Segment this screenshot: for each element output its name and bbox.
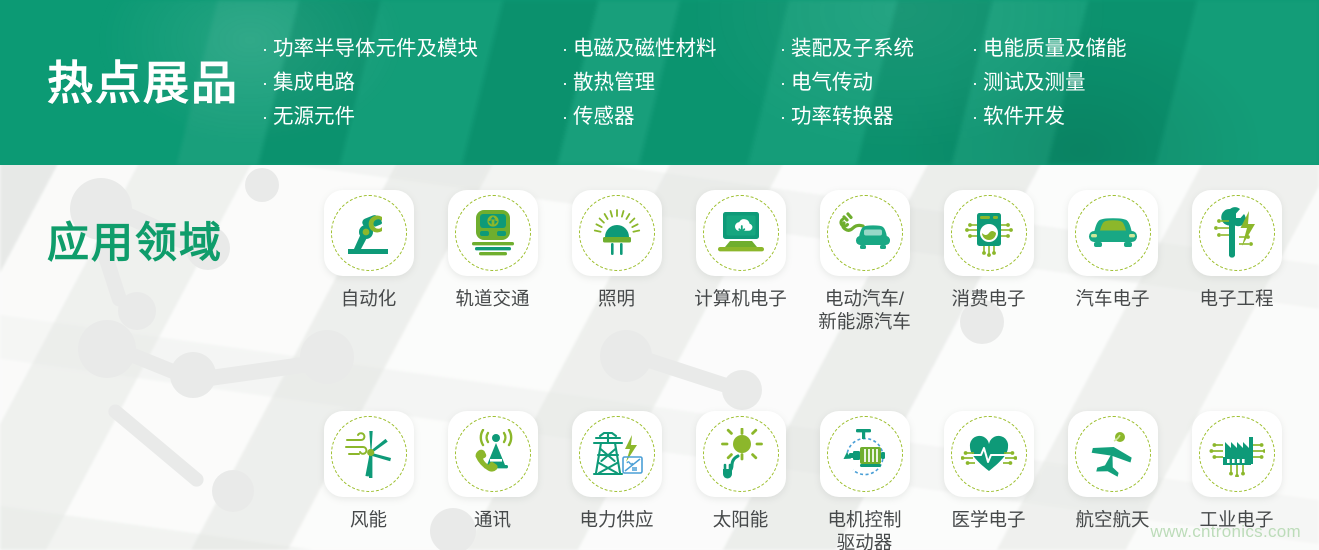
application-label: 轨道交通 <box>455 287 529 310</box>
label-line-1: 照明 <box>598 288 635 309</box>
application-item-automotive-electronics[interactable]: 汽车电子 <box>1060 190 1165 333</box>
application-item-power-supply[interactable]: 电力供应 <box>564 411 669 550</box>
icon-card <box>448 190 538 276</box>
car-icon <box>1086 216 1140 250</box>
label-line-1: 电力供应 <box>579 509 653 530</box>
icon-card <box>1068 190 1158 276</box>
label-line-1: 轨道交通 <box>455 288 529 309</box>
application-item-motor-drive[interactable]: 电机控制 驱动器 <box>812 411 917 550</box>
power-pylon-icon <box>590 429 644 479</box>
dashed-ring <box>1199 416 1275 492</box>
hot-exhibit-item: ·功率半导体元件及模块 <box>262 32 562 66</box>
application-item-electronic-engineering[interactable]: 电子工程 <box>1184 190 1289 333</box>
hot-exhibit-item: ·无源元件 <box>262 100 562 134</box>
hot-exhibits-column-2: ·电磁及磁性材料 ·散热管理 ·传感器 <box>562 32 780 134</box>
application-label: 太阳能 <box>713 508 769 531</box>
dashed-ring <box>951 416 1027 492</box>
icon-card <box>448 411 538 497</box>
label-line-1: 电机控制 <box>827 509 901 530</box>
icon-card <box>324 190 414 276</box>
label-line-1: 消费电子 <box>951 288 1025 309</box>
application-label: 电机控制 驱动器 <box>827 508 901 550</box>
dashed-ring <box>1199 195 1275 271</box>
label-line-2: 新能源汽车 <box>818 310 911 333</box>
bullet-dot: · <box>262 73 268 93</box>
dashed-ring <box>827 416 903 492</box>
bullet-dot: · <box>780 39 786 59</box>
application-label: 自动化 <box>341 287 397 310</box>
dashed-ring <box>1075 416 1151 492</box>
bullet-dot: · <box>562 107 568 127</box>
hot-exhibit-label: 功率转换器 <box>791 105 894 128</box>
application-item-automation[interactable]: 自动化 <box>316 190 421 333</box>
label-line-1: 电子工程 <box>1199 288 1273 309</box>
icon-card <box>696 411 786 497</box>
dashed-ring <box>1075 195 1151 271</box>
antenna-phone-icon <box>466 429 520 479</box>
application-label: 风能 <box>350 508 387 531</box>
hot-exhibit-label: 装配及子系统 <box>791 37 914 60</box>
icon-card <box>820 190 910 276</box>
hot-exhibit-label: 功率半导体元件及模块 <box>273 37 478 60</box>
hot-exhibit-label: 软件开发 <box>983 105 1065 128</box>
hot-exhibit-item: ·电磁及磁性材料 <box>562 32 780 66</box>
wind-turbine-icon <box>343 428 395 480</box>
dashed-ring <box>703 416 779 492</box>
icon-card <box>944 190 1034 276</box>
dashed-ring <box>579 416 655 492</box>
dashed-ring <box>579 195 655 271</box>
label-line-1: 医学电子 <box>951 509 1025 530</box>
bullet-dot: · <box>262 107 268 127</box>
hot-exhibit-item: ·电气传动 <box>780 66 972 100</box>
application-label: 电动汽车/ 新能源汽车 <box>818 287 911 333</box>
bullet-dot: · <box>972 73 978 93</box>
hot-exhibit-label: 散热管理 <box>573 71 655 94</box>
wrench-bolt-icon <box>1211 207 1263 259</box>
application-label: 通讯 <box>474 508 511 531</box>
hot-exhibits-column-1: ·功率半导体元件及模块 ·集成电路 ·无源元件 <box>262 32 562 134</box>
factory-circuit-icon <box>1209 431 1265 477</box>
application-item-rail-transit[interactable]: 轨道交通 <box>440 190 545 333</box>
icon-card <box>1192 190 1282 276</box>
application-item-communication[interactable]: 通讯 <box>440 411 545 550</box>
label-line-1: 通讯 <box>474 509 511 530</box>
label-line-1: 电动汽车/ <box>825 288 904 309</box>
hot-exhibit-item: ·电能质量及储能 <box>972 32 1172 66</box>
poster-root: 热点展品 ·功率半导体元件及模块 ·集成电路 ·无源元件 ·电磁及磁性材料 ·散… <box>0 0 1319 550</box>
dashed-ring <box>455 416 531 492</box>
application-icon-grid: 自动化 <box>316 190 1316 550</box>
hot-exhibit-item: ·传感器 <box>562 100 780 134</box>
dashed-ring <box>331 416 407 492</box>
hot-exhibit-item: ·散热管理 <box>562 66 780 100</box>
airplane-icon <box>1087 430 1139 478</box>
label-line-1: 航空航天 <box>1075 509 1149 530</box>
label-line-1: 汽车电子 <box>1075 288 1149 309</box>
led-lamp-icon <box>592 208 642 258</box>
application-label: 医学电子 <box>951 508 1025 531</box>
icon-card <box>1192 411 1282 497</box>
hot-exhibit-item: ·测试及测量 <box>972 66 1172 100</box>
hot-exhibit-label: 集成电路 <box>273 71 355 94</box>
dashed-ring <box>331 195 407 271</box>
application-item-lighting[interactable]: 照明 <box>564 190 669 333</box>
label-line-1: 自动化 <box>341 288 397 309</box>
bullet-dot: · <box>972 39 978 59</box>
application-item-ev[interactable]: 电动汽车/ 新能源汽车 <box>812 190 917 333</box>
computer-cloud-icon <box>714 210 768 256</box>
hot-exhibits-column-4: ·电能质量及储能 ·测试及测量 ·软件开发 <box>972 32 1172 134</box>
icon-card <box>696 190 786 276</box>
ev-charging-car-icon <box>837 212 893 254</box>
application-item-wind-energy[interactable]: 风能 <box>316 411 421 550</box>
dashed-ring <box>827 195 903 271</box>
application-item-computer-electronics[interactable]: 计算机电子 <box>688 190 793 333</box>
bullet-dot: · <box>562 73 568 93</box>
application-item-consumer-electronics[interactable]: 消费电子 <box>936 190 1041 333</box>
hot-exhibit-label: 测试及测量 <box>983 71 1086 94</box>
application-row: 自动化 <box>316 190 1316 333</box>
icon-card <box>1068 411 1158 497</box>
label-line-1: 风能 <box>350 509 387 530</box>
application-label: 汽车电子 <box>1075 287 1149 310</box>
hot-exhibit-item: ·装配及子系统 <box>780 32 972 66</box>
robot-arm-icon <box>343 208 395 258</box>
icon-card <box>944 411 1034 497</box>
bullet-dot: · <box>562 39 568 59</box>
washing-machine-icon <box>962 208 1016 258</box>
label-line-1: 计算机电子 <box>694 288 787 309</box>
application-label: 航空航天 <box>1075 508 1149 531</box>
dashed-ring <box>455 195 531 271</box>
site-watermark: www.cntronics.com <box>1150 522 1301 542</box>
hot-exhibit-label: 电磁及磁性材料 <box>573 37 717 60</box>
hot-exhibit-item: ·功率转换器 <box>780 100 972 134</box>
application-label: 电力供应 <box>579 508 653 531</box>
label-line-1: 太阳能 <box>713 509 769 530</box>
application-areas-title: 应用领域 <box>47 222 223 264</box>
heart-ecg-icon <box>961 433 1017 475</box>
hot-exhibits-title: 热点展品 <box>47 60 262 106</box>
hot-exhibits-column-3: ·装配及子系统 ·电气传动 ·功率转换器 <box>780 32 972 134</box>
icon-card <box>572 190 662 276</box>
application-label: 计算机电子 <box>694 287 787 310</box>
hot-exhibit-label: 电能质量及储能 <box>983 37 1127 60</box>
application-item-medical-electronics[interactable]: 医学电子 <box>936 411 1041 550</box>
icon-card <box>572 411 662 497</box>
hot-exhibit-label: 无源元件 <box>273 105 355 128</box>
application-item-solar-energy[interactable]: 太阳能 <box>688 411 793 550</box>
application-label: 消费电子 <box>951 287 1025 310</box>
dashed-ring <box>703 195 779 271</box>
bullet-dot: · <box>262 39 268 59</box>
train-icon <box>469 207 517 259</box>
motor-drive-icon <box>838 428 892 480</box>
bullet-dot: · <box>780 73 786 93</box>
label-line-2: 驱动器 <box>827 531 901 550</box>
hot-exhibit-label: 传感器 <box>573 105 635 128</box>
bullet-dot: · <box>780 107 786 127</box>
hot-exhibits-columns: ·功率半导体元件及模块 ·集成电路 ·无源元件 ·电磁及磁性材料 ·散热管理 ·… <box>262 32 1319 134</box>
sun-plug-icon <box>716 428 766 480</box>
hot-exhibit-label: 电气传动 <box>791 71 873 94</box>
application-label: 照明 <box>598 287 635 310</box>
bullet-dot: · <box>972 107 978 127</box>
icon-card <box>820 411 910 497</box>
hot-exhibits-header: 热点展品 ·功率半导体元件及模块 ·集成电路 ·无源元件 ·电磁及磁性材料 ·散… <box>0 0 1319 165</box>
application-label: 电子工程 <box>1199 287 1273 310</box>
dashed-ring <box>951 195 1027 271</box>
icon-card <box>324 411 414 497</box>
hot-exhibit-item: ·集成电路 <box>262 66 562 100</box>
hot-exhibit-item: ·软件开发 <box>972 100 1172 134</box>
